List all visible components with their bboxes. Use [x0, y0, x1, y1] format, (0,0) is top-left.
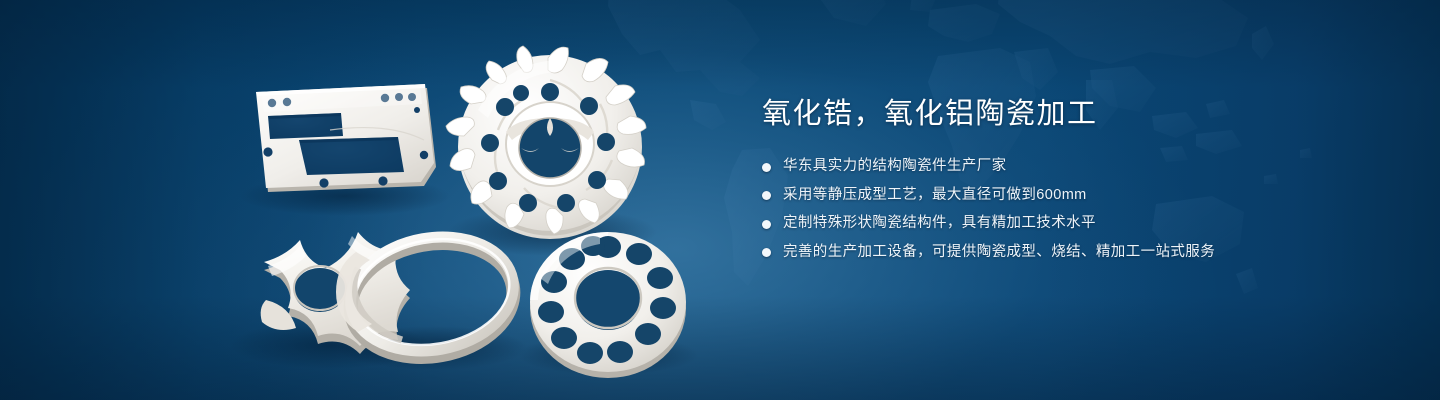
feature-text: 采用等静压成型工艺，最大直径可做到600mm [783, 186, 1087, 206]
feature-text: 华东具实力的结构陶瓷件生产厂家 [783, 157, 1007, 177]
bullet-dot-icon [762, 220, 771, 229]
bullet-dot-icon [762, 163, 771, 172]
banner-headline: 氧化锆，氧化铝陶瓷加工 [762, 98, 1362, 131]
product-photo-group [0, 0, 760, 400]
feature-item: 完善的生产加工设备，可提供陶瓷成型、烧结、精加工一站式服务 [762, 243, 1362, 263]
feature-item: 华东具实力的结构陶瓷件生产厂家 [762, 157, 1362, 177]
feature-list: 华东具实力的结构陶瓷件生产厂家 采用等静压成型工艺，最大直径可做到600mm 定… [762, 157, 1362, 262]
promo-banner: 氧化锆，氧化铝陶瓷加工 华东具实力的结构陶瓷件生产厂家 采用等静压成型工艺，最大… [0, 0, 1440, 400]
bullet-dot-icon [762, 248, 771, 257]
bullet-dot-icon [762, 191, 771, 200]
ceramic-plate-part [256, 84, 436, 192]
feature-item: 定制特殊形状陶瓷结构件，具有精加工技术水平 [762, 214, 1362, 234]
feature-item: 采用等静压成型工艺，最大直径可做到600mm [762, 186, 1362, 206]
ceramic-impeller-part [446, 46, 646, 239]
feature-text: 完善的生产加工设备，可提供陶瓷成型、烧结、精加工一站式服务 [783, 243, 1215, 263]
banner-copy: 氧化锆，氧化铝陶瓷加工 华东具实力的结构陶瓷件生产厂家 采用等静压成型工艺，最大… [762, 98, 1362, 263]
feature-text: 定制特殊形状陶瓷结构件，具有精加工技术水平 [783, 214, 1096, 234]
